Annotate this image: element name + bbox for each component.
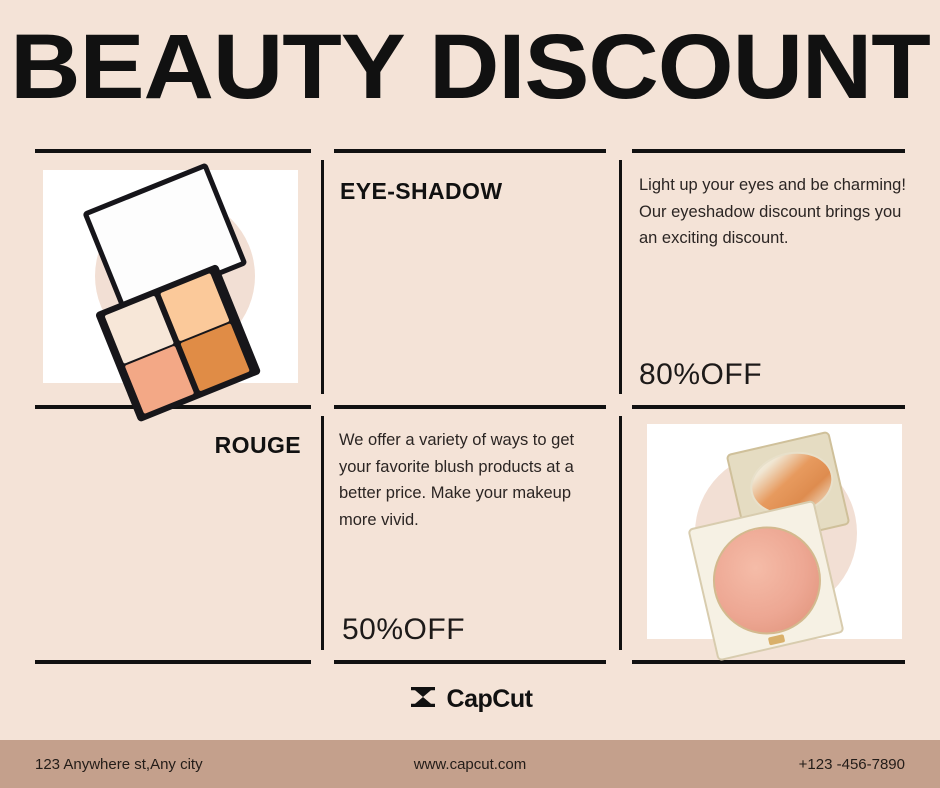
product-description-rouge: We offer a variety of ways to get your f… (339, 427, 607, 534)
divider-vertical-row2-left (321, 416, 324, 650)
blush-clasp (768, 634, 785, 645)
blush-compact-illustration (683, 436, 881, 634)
product-label-eyeshadow: EYE-SHADOW (340, 178, 502, 205)
discount-eyeshadow: 80%OFF (639, 358, 762, 392)
divider-vertical-row2-right (619, 416, 622, 650)
divider-bottom-center (334, 660, 606, 664)
divider-top-left (35, 149, 311, 153)
capcut-logo: CapCut (0, 684, 940, 715)
divider-top-middle (334, 149, 606, 153)
divider-vertical-row1-right (619, 160, 622, 394)
capcut-hourglass-icon (408, 684, 438, 715)
discount-rouge: 50%OFF (342, 613, 465, 647)
blush-pan (702, 516, 832, 646)
footer-phone: +123 -456-7890 (799, 756, 905, 773)
divider-top-right (632, 149, 905, 153)
footer-address: 123 Anywhere st,Any city (35, 756, 203, 773)
blush-compact-photo (647, 424, 902, 639)
divider-vertical-row1-left (321, 160, 324, 394)
footer-website[interactable]: www.capcut.com (414, 756, 527, 773)
product-description-eyeshadow: Light up your eyes and be charming! Our … (639, 172, 907, 252)
page-title: BEAUTY DISCOUNT (0, 24, 940, 111)
divider-bottom-right (632, 660, 905, 664)
footer-bar: 123 Anywhere st,Any city www.capcut.com … (0, 740, 940, 788)
eyeshadow-palette-photo (43, 170, 298, 383)
divider-middle-right (632, 405, 905, 409)
divider-bottom-left (35, 660, 311, 664)
capcut-wordmark: CapCut (447, 685, 533, 714)
eyeshadow-palette-illustration (64, 166, 278, 388)
product-label-rouge: ROUGE (35, 432, 301, 459)
divider-middle-center (334, 405, 606, 409)
